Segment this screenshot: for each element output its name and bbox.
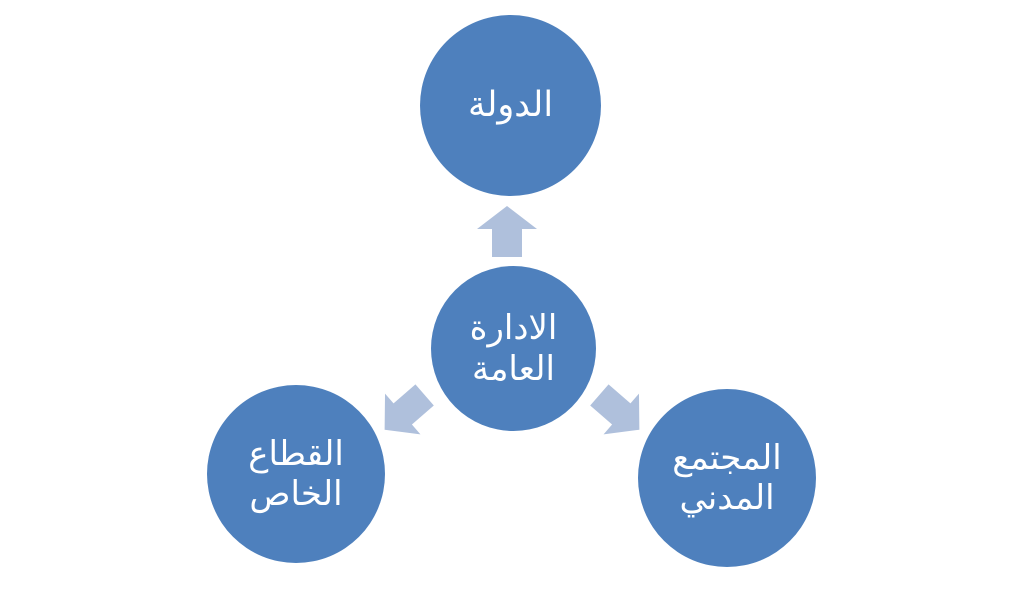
node-public-administration: الادارة العامة [431,266,596,431]
diagram-canvas: الدولة الادارة العامة القطاع الخاص المجت… [0,0,1024,599]
node-private-sector-label: القطاع الخاص [207,434,385,514]
node-state-label: الدولة [420,85,601,126]
node-public-administration-label: الادارة العامة [431,308,596,388]
node-civil-society-label: المجتمع المدني [638,438,816,518]
node-private-sector: القطاع الخاص [207,385,385,563]
block-arrow-up-icon [476,204,538,258]
block-arrow-down-right-icon [588,381,650,443]
node-civil-society: المجتمع المدني [638,389,816,567]
node-state: الدولة [420,15,601,196]
